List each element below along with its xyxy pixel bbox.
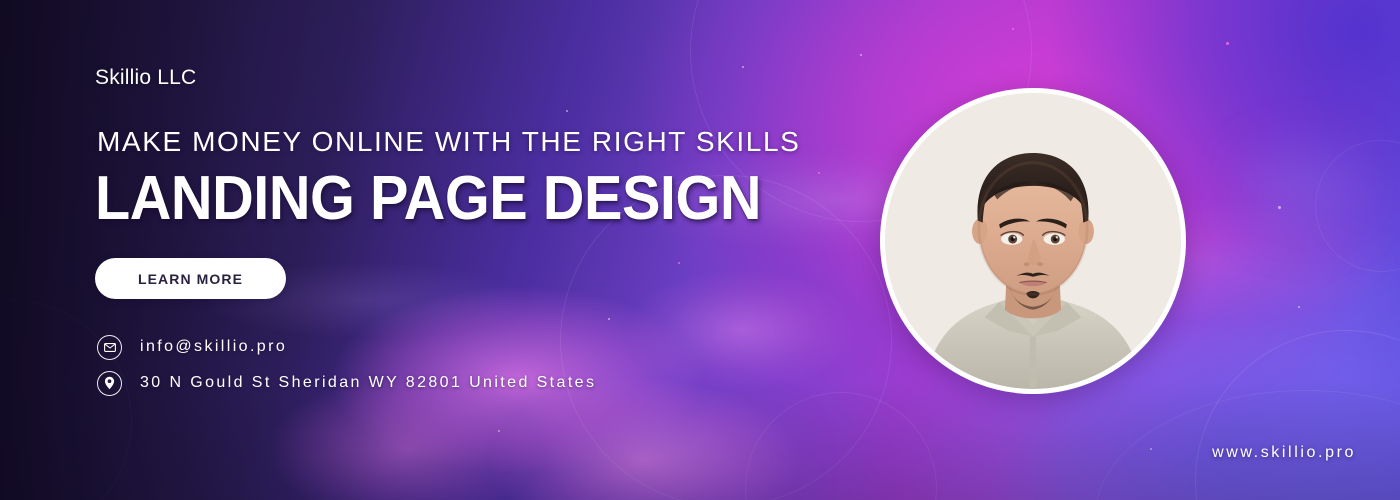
contact-info: info@skillio.pro 30 N Gould St Sheridan … [97, 329, 596, 401]
decorative-glow [1245, 150, 1365, 228]
map-pin-icon [97, 371, 122, 396]
street-address: 30 N Gould St Sheridan WY 82801 United S… [140, 374, 596, 392]
avatar [880, 88, 1186, 394]
star-speck [1150, 448, 1152, 450]
decorative-ring [1195, 330, 1400, 500]
page-title: LANDING PAGE DESIGN [95, 168, 761, 230]
star-speck [1298, 306, 1300, 308]
website-url[interactable]: www.skillio.pro [1212, 444, 1356, 462]
contact-address-row: 30 N Gould St Sheridan WY 82801 United S… [97, 365, 596, 401]
envelope-icon [97, 335, 122, 360]
learn-more-button[interactable]: LEARN MORE [95, 258, 286, 299]
contact-email-row[interactable]: info@skillio.pro [97, 329, 596, 365]
promotional-banner: Skillio LLC MAKE MONEY ONLINE WITH THE R… [0, 0, 1400, 500]
sub-headline: MAKE MONEY ONLINE WITH THE RIGHT SKILLS [97, 126, 800, 158]
brand-name: Skillio LLC [95, 66, 196, 90]
decorative-ring [1315, 140, 1400, 272]
star-speck [1278, 206, 1281, 209]
star-speck [1226, 42, 1229, 45]
email-address: info@skillio.pro [140, 338, 287, 356]
star-speck [860, 54, 862, 56]
banner-content: Skillio LLC MAKE MONEY ONLINE WITH THE R… [95, 0, 855, 500]
star-speck [1012, 28, 1014, 30]
